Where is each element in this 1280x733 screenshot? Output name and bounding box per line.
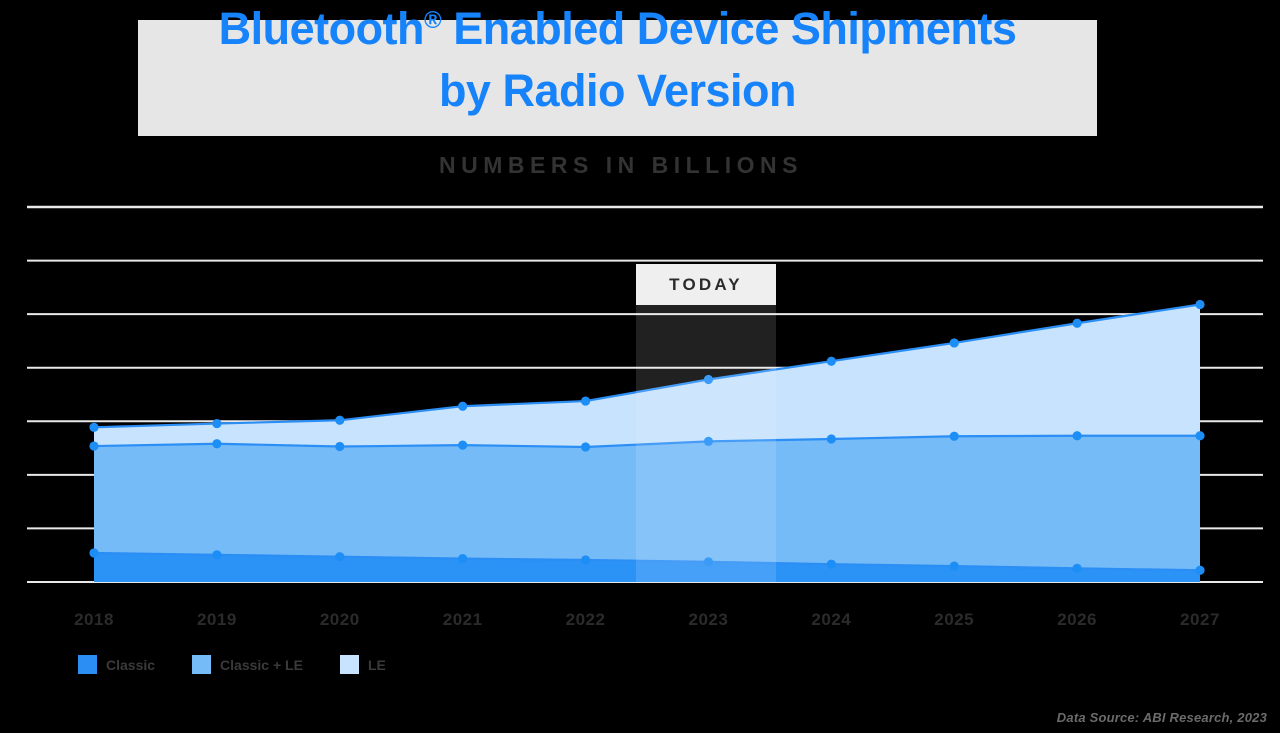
data-point-marker[interactable] [950, 561, 959, 570]
data-point-marker[interactable] [89, 423, 98, 432]
today-highlight-band [636, 305, 776, 582]
legend-item-classic-le[interactable]: Classic + LE [192, 655, 303, 674]
data-point-marker[interactable] [458, 441, 467, 450]
data-point-marker[interactable] [1073, 564, 1082, 573]
x-axis-label-2026: 2026 [1032, 610, 1122, 630]
data-point-marker[interactable] [827, 560, 836, 569]
data-point-marker[interactable] [581, 396, 590, 405]
x-axis-label-2019: 2019 [172, 610, 262, 630]
x-axis-label-2021: 2021 [418, 610, 508, 630]
data-point-marker[interactable] [827, 434, 836, 443]
x-axis-label-2027: 2027 [1155, 610, 1245, 630]
data-point-marker[interactable] [1073, 319, 1082, 328]
today-label: TODAY [669, 275, 743, 295]
chart-legend: ClassicClassic + LELE [78, 655, 423, 674]
data-point-marker[interactable] [950, 432, 959, 441]
x-axis-label-2018: 2018 [49, 610, 139, 630]
x-axis-label-2020: 2020 [295, 610, 385, 630]
data-point-marker[interactable] [950, 338, 959, 347]
legend-label: LE [368, 657, 386, 673]
legend-label: Classic [106, 657, 155, 673]
x-axis-label-2023: 2023 [663, 610, 753, 630]
x-axis-label-2022: 2022 [541, 610, 631, 630]
x-axis-label-2025: 2025 [909, 610, 999, 630]
legend-item-classic[interactable]: Classic [78, 655, 155, 674]
data-point-marker[interactable] [458, 554, 467, 563]
legend-item-le[interactable]: LE [340, 655, 386, 674]
data-point-marker[interactable] [89, 548, 98, 557]
data-point-marker[interactable] [335, 416, 344, 425]
data-point-marker[interactable] [1195, 431, 1204, 440]
data-point-marker[interactable] [581, 555, 590, 564]
legend-label: Classic + LE [220, 657, 303, 673]
legend-swatch-icon [78, 655, 97, 674]
data-point-marker[interactable] [335, 442, 344, 451]
data-point-marker[interactable] [212, 439, 221, 448]
data-point-marker[interactable] [335, 552, 344, 561]
today-marker: TODAY [636, 264, 776, 305]
legend-swatch-icon [192, 655, 211, 674]
data-point-marker[interactable] [581, 442, 590, 451]
data-point-marker[interactable] [1195, 300, 1204, 309]
data-point-marker[interactable] [458, 402, 467, 411]
data-point-marker[interactable] [212, 550, 221, 559]
data-point-marker[interactable] [1195, 566, 1204, 575]
legend-swatch-icon [340, 655, 359, 674]
data-point-marker[interactable] [89, 441, 98, 450]
data-point-marker[interactable] [827, 357, 836, 366]
x-axis-label-2024: 2024 [786, 610, 876, 630]
x-axis: 2018201920202021202220232024202520262027 [0, 610, 1280, 636]
data-point-marker[interactable] [1073, 431, 1082, 440]
data-source-note: Data Source: ABI Research, 2023 [1057, 710, 1267, 725]
data-point-marker[interactable] [212, 419, 221, 428]
